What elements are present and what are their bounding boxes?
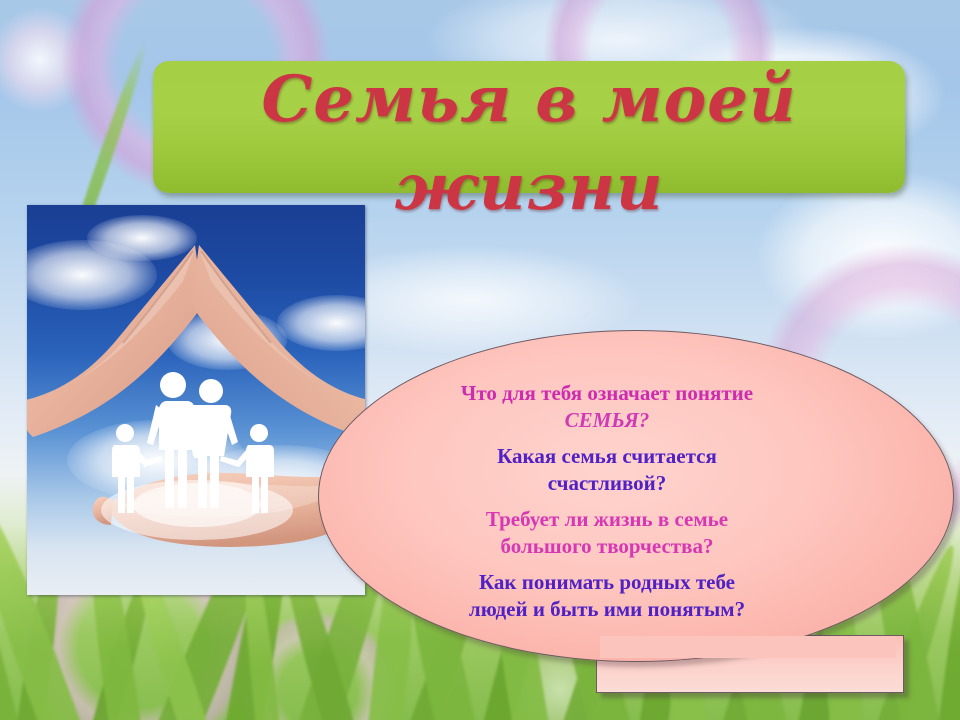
family-photo [27,205,365,595]
question-emphasis: СЕМЬЯ? [392,407,822,434]
question-line: Какая семья считается [392,443,822,470]
page-title: Семья в моей жизни [153,56,905,232]
question-line: Требует ли жизнь в семье [392,506,822,533]
question-item: Что для тебя означает понятиеСЕМЬЯ? [392,380,822,434]
question-item: Требует ли жизнь в семьебольшого творчес… [392,506,822,560]
presentation-slide: Семья в моей жизни Что для тебя означает… [0,0,960,720]
question-list: Что для тебя означает понятиеСЕМЬЯ?Какая… [392,380,822,632]
question-line: Как понимать родных тебе [392,569,822,596]
family-silhouette-icon [27,205,365,595]
question-line: большого творчества? [392,533,822,560]
question-line: счастливой? [392,470,822,497]
question-line: Что для тебя означает понятие [392,380,822,407]
question-line: людей и быть ими понятым? [392,596,822,623]
bubble-seam-cover [600,636,896,658]
question-item: Как понимать родных тебелюдей и быть ими… [392,569,822,623]
question-item: Какая семья считаетсясчастливой? [392,443,822,497]
